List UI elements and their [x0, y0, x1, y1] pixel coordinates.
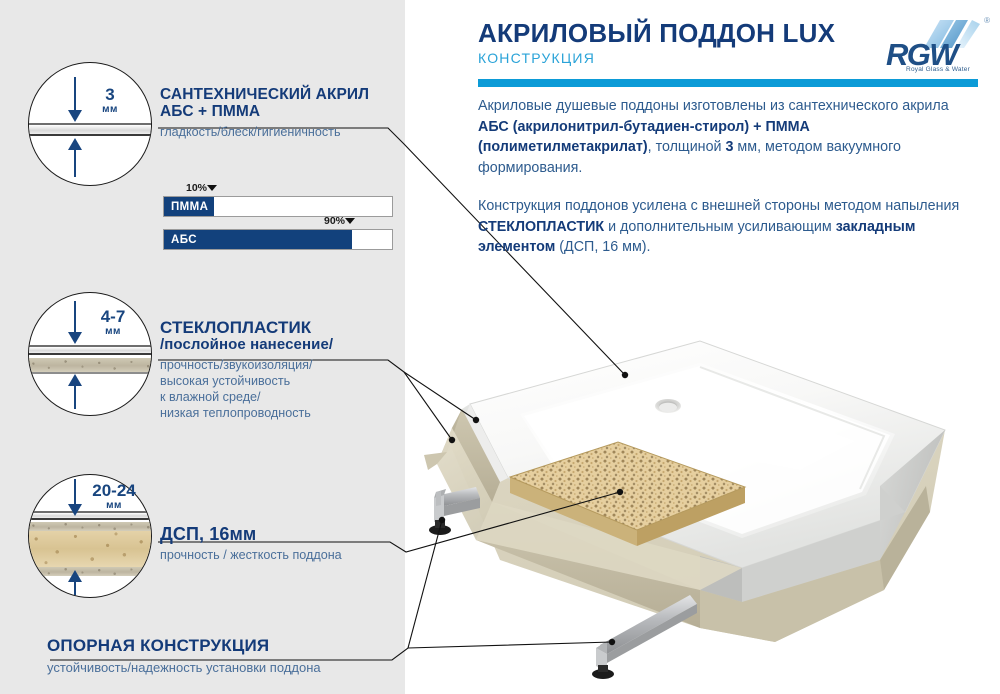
logo-tagline: Royal Glass & Water: [890, 66, 986, 73]
dim-arrow-down-icon: [74, 77, 76, 111]
bar-abs-fill: АБС: [164, 230, 352, 249]
page-subtitle: КОНСТРУКЦИЯ: [478, 50, 878, 66]
support-subtitle: устойчивость/надежность установки поддон…: [47, 660, 321, 675]
body-copy: Акриловые душевые поддоны изготовлены из…: [478, 96, 970, 276]
layer-fiberglass-upper: [28, 522, 152, 531]
paragraph-2: Конструкция поддонов усилена с внешней с…: [478, 196, 970, 258]
cross-section-acryl: [28, 62, 152, 186]
paragraph-1: Акриловые душевые поддоны изготовлены из…: [478, 96, 970, 178]
dimension-fiberglass: 4-7 мм: [86, 308, 140, 337]
callout-label-chipboard: ДСП, 16мм прочность / жесткость поддона: [160, 524, 342, 563]
layer-fiberglass: [28, 358, 152, 372]
support-title: ОПОРНАЯ КОНСТРУКЦИЯ: [47, 636, 321, 656]
dim-arrow-down-icon-3: [74, 479, 76, 505]
rgw-logo: ® RGW Royal Glass & Water: [886, 14, 990, 76]
layer-acryl: [28, 125, 152, 134]
bar-pmma-percent: 10%: [186, 182, 207, 194]
infographic-page: АКРИЛОВЫЙ ПОДДОН LUX КОНСТРУКЦИЯ ® RGW: [0, 0, 1000, 694]
page-title: АКРИЛОВЫЙ ПОДДОН LUX: [478, 20, 878, 47]
dimension-acryl: 3 мм: [88, 86, 132, 115]
bar-pmma: 10% ПММА: [163, 196, 393, 217]
dimension-chipboard: 20-24 мм: [82, 482, 146, 511]
dim-arrow-up-icon-3: [74, 581, 76, 597]
title-divider: [478, 79, 978, 87]
bar-pmma-fill: ПММА: [164, 197, 214, 216]
callout-label-support: ОПОРНАЯ КОНСТРУКЦИЯ устойчивость/надежно…: [47, 636, 321, 675]
composition-bars: 10% ПММА 90% АБС: [163, 196, 393, 262]
page-header: АКРИЛОВЫЙ ПОДДОН LUX КОНСТРУКЦИЯ: [478, 20, 878, 66]
dim-arrow-up-icon: [74, 149, 76, 177]
dim-arrow-down-icon-2: [74, 301, 76, 333]
callout-label-fiberglass: СТЕКЛОПЛАСТИК /послойное нанесение/ проч…: [160, 318, 333, 421]
layer-chipboard: [28, 531, 152, 567]
layer-acryl-bottom: [28, 134, 152, 136]
layer-fiberglass-lower: [28, 567, 152, 576]
dim-arrow-up-icon-2: [74, 385, 76, 409]
registered-mark-icon: ®: [984, 16, 990, 25]
bar-abs-percent: 90%: [324, 215, 345, 227]
bar-abs: 90% АБС: [163, 229, 393, 250]
layer-fiberglass-edge: [28, 372, 152, 374]
callout-label-acryl: САНТЕХНИЧЕСКИЙ АКРИЛ АБС + ПММА гладкост…: [160, 86, 369, 140]
